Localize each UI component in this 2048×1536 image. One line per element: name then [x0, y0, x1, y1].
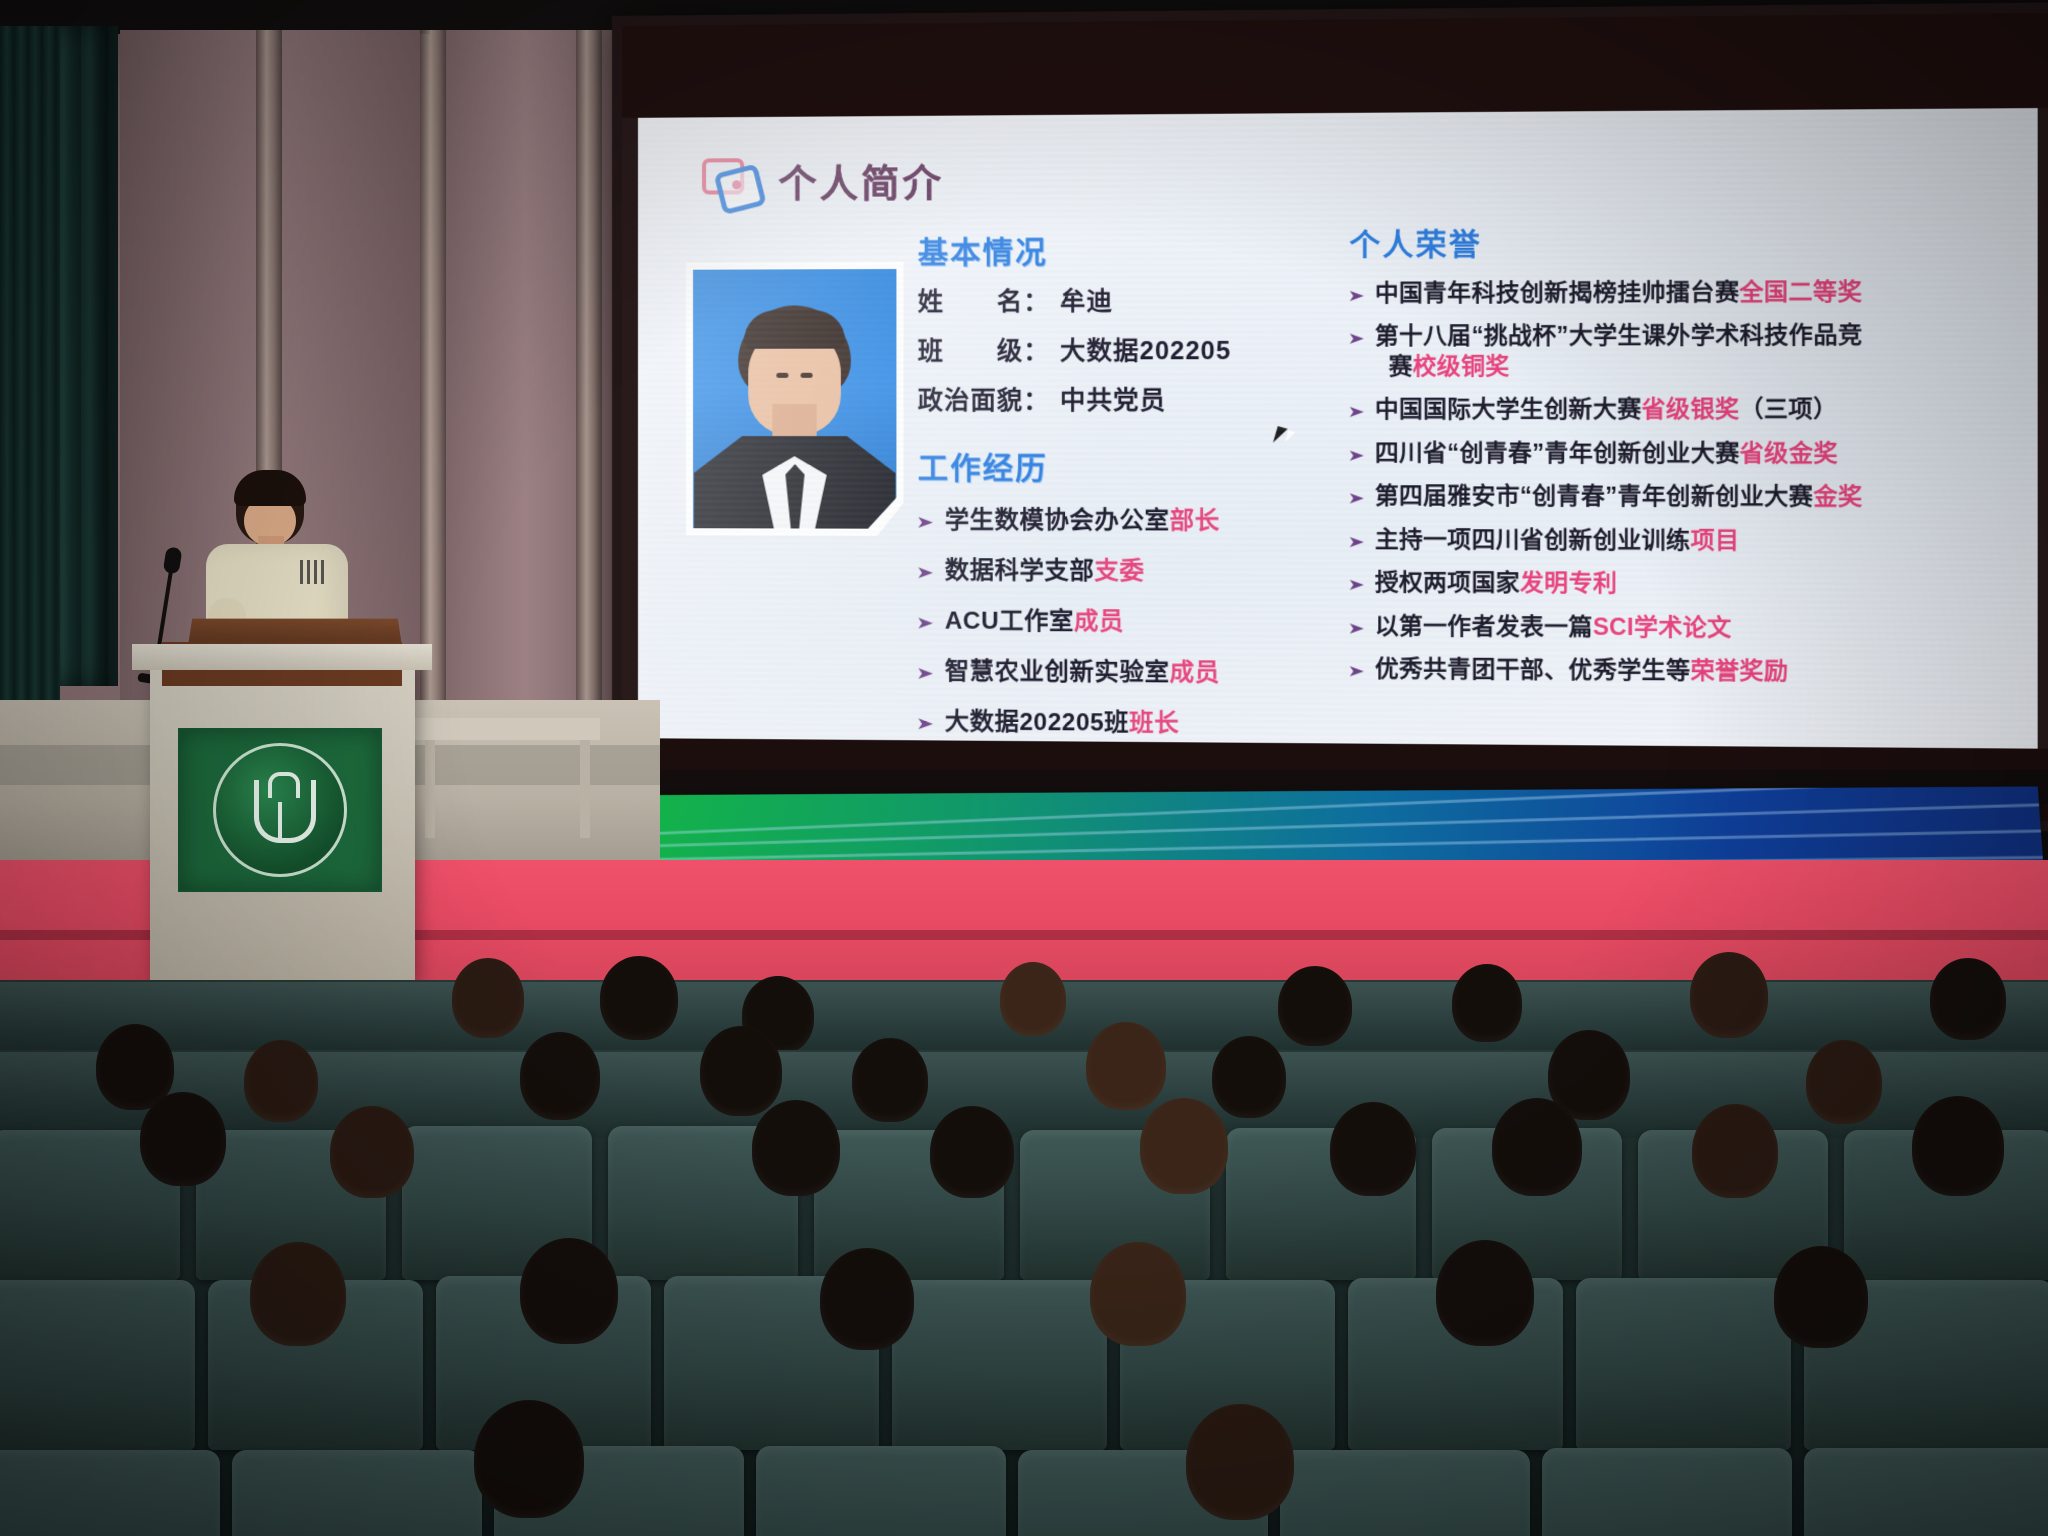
audience-area — [0, 980, 2048, 1536]
stage-curtain-edge — [0, 26, 60, 716]
work-role: 部长 — [1170, 507, 1220, 534]
podium — [150, 660, 415, 980]
honor-text: 优秀共青团干部、优秀学生等 — [1375, 655, 1691, 683]
work-text: ACU工作室 — [945, 607, 1074, 635]
audience-head — [452, 958, 524, 1038]
info-row-class: 班 级：大数据202205 — [918, 331, 1331, 368]
seat — [232, 1450, 482, 1536]
work-text: 学生数模协会办公室 — [945, 507, 1170, 535]
audience-head — [244, 1040, 318, 1122]
list-item: 授权两项国家发明专利 — [1349, 568, 2010, 601]
work-role: 支委 — [1094, 558, 1144, 585]
info-row-name: 姓 名：牟迪 — [918, 281, 1331, 319]
audience-head — [1690, 952, 1768, 1038]
audience-head — [752, 1100, 840, 1196]
left-column: 基本情况 姓 名：牟迪 班 级：大数据202205 政治面貌：中共党员 工作经历 — [664, 220, 1331, 749]
list-item: 大数据202205班班长 — [918, 701, 1331, 739]
audience-head — [1692, 1104, 1778, 1198]
presentation-slide: 个人简介 — [638, 108, 2038, 749]
work-text: 数据科学支部 — [945, 557, 1095, 585]
audience-head — [820, 1248, 914, 1350]
audience-head — [1086, 1022, 1166, 1110]
honor-award: 项目 — [1690, 526, 1739, 553]
basic-info-heading: 基本情况 — [918, 226, 1331, 272]
audience-head — [600, 956, 678, 1040]
honor-text: 第四届雅安市“创青春”青年创新创业大赛 — [1375, 482, 1813, 509]
work-role: 成员 — [1074, 608, 1124, 636]
seat — [1542, 1448, 1792, 1536]
info-row-political: 政治面貌：中共党员 — [918, 380, 1331, 417]
info-value-political: 中共党员 — [1060, 387, 1166, 415]
work-role: 班长 — [1129, 709, 1179, 737]
slide-header: 个人简介 — [702, 145, 2010, 208]
list-item: 数据科学支部支委 — [918, 550, 1331, 587]
info-label-class: 班 级： — [918, 331, 1060, 368]
portrait-photo-wrap — [686, 262, 904, 749]
list-item: 第四届雅安市“创青春”青年创新创业大赛金奖 — [1349, 481, 2010, 512]
portrait-background — [693, 269, 896, 529]
honors-list: 中国青年科技创新揭榜挂帅擂台赛全国二等奖 第十八届“挑战杯”大学生课外学术科技作… — [1349, 277, 2010, 688]
audience-head — [330, 1106, 414, 1198]
info-value-class: 大数据202205 — [1060, 337, 1231, 366]
info-value-name: 牟迪 — [1060, 288, 1113, 316]
audience-head — [1436, 1240, 1534, 1346]
audience-head — [520, 1238, 618, 1344]
audience-head — [1212, 1036, 1286, 1118]
seat — [892, 1280, 1107, 1450]
honor-text: 授权两项国家 — [1375, 569, 1520, 596]
screen-top-band — [622, 13, 2048, 118]
seat — [0, 1280, 195, 1450]
podium-top-edge — [132, 644, 432, 670]
audience-head — [1000, 962, 1066, 1036]
list-item: 智慧农业创新实验室成员 — [918, 651, 1331, 689]
audience-head — [852, 1038, 928, 1122]
honor-text: 中国国际大学生创新大赛 — [1375, 396, 1642, 423]
list-item: 中国青年科技创新揭榜挂帅擂台赛全国二等奖 — [1349, 277, 2010, 309]
audience-head — [1278, 966, 1352, 1046]
slide-surface: 个人简介 — [638, 108, 2038, 749]
honor-award: 发明专利 — [1520, 569, 1617, 596]
audience-head — [1774, 1246, 1868, 1348]
audience-head — [700, 1026, 782, 1116]
honor-award: 省级银奖 — [1642, 396, 1740, 423]
list-item: 主持一项四川省创新创业训练项目 — [1349, 524, 2010, 556]
honor-cont: 赛校级铜奖 — [1389, 351, 2010, 382]
honor-award: 省级金奖 — [1740, 439, 1838, 466]
list-item: 第十八届“挑战杯”大学生课外学术科技作品竞赛校级铜奖 — [1349, 320, 2010, 381]
wall-pillar-b — [420, 30, 446, 730]
honor-award: 全国二等奖 — [1739, 278, 1862, 305]
seat — [1576, 1278, 1791, 1450]
university-emblem-icon — [178, 728, 382, 892]
audience-head — [1806, 1040, 1882, 1124]
list-item: 以第一作者发表一篇SCI学术论文 — [1349, 611, 2010, 644]
seat — [1280, 1450, 1530, 1536]
honor-suffix: （三项） — [1739, 396, 1837, 423]
work-list: 学生数模协会办公室部长 数据科学支部支委 ACU工作室成员 智慧农业创新实验室成… — [918, 500, 1331, 740]
seat — [756, 1446, 1006, 1536]
work-text: 大数据202205班 — [945, 708, 1129, 737]
projection-screen: 个人简介 — [612, 2, 2048, 831]
slide-title: 个人简介 — [778, 152, 944, 208]
slide-columns: 基本情况 姓 名：牟迪 班 级：大数据202205 政治面貌：中共党员 工作经历 — [664, 217, 2010, 749]
tag-icon — [702, 156, 760, 206]
audience-head — [140, 1092, 226, 1186]
honor-text: 以第一作者发表一篇 — [1375, 612, 1593, 640]
work-role: 成员 — [1170, 659, 1220, 687]
audience-head — [520, 1032, 600, 1120]
list-item: 学生数模协会办公室部长 — [918, 500, 1331, 536]
audience-head — [1186, 1404, 1294, 1520]
info-label-political: 政治面貌： — [918, 381, 1060, 417]
audience-head — [250, 1242, 346, 1346]
right-column: 个人荣誉 中国青年科技创新揭榜挂帅擂台赛全国二等奖 第十八届“挑战杯”大学生课外… — [1331, 217, 2010, 749]
audience-head — [1930, 958, 2006, 1040]
audience-head — [1912, 1096, 2004, 1196]
work-text: 智慧农业创新实验室 — [945, 658, 1170, 687]
wall-pillar-c — [576, 30, 602, 730]
honor-award: SCI学术论文 — [1593, 613, 1732, 640]
honor-text: 主持一项四川省创新创业训练 — [1375, 526, 1691, 553]
basic-info-block: 基本情况 姓 名：牟迪 班 级：大数据202205 政治面貌：中共党员 工作经历 — [918, 220, 1331, 749]
avatar — [686, 262, 904, 536]
honor-text: 第十八届“挑战杯”大学生课外学术科技作品竞 — [1375, 322, 1863, 350]
list-item: 优秀共青团干部、优秀学生等荣誉奖励 — [1349, 654, 2010, 688]
honors-heading: 个人荣誉 — [1349, 217, 2010, 265]
audience-head — [474, 1400, 584, 1518]
honor-award: 荣誉奖励 — [1690, 657, 1788, 684]
info-label-name: 姓 名： — [918, 282, 1060, 319]
audience-head — [1492, 1098, 1582, 1196]
seat — [0, 1450, 220, 1536]
honor-text: 中国青年科技创新揭榜挂帅擂台赛 — [1375, 278, 1739, 306]
list-item: 中国国际大学生创新大赛省级银奖（三项） — [1349, 395, 2010, 425]
audience-head — [1140, 1098, 1228, 1194]
honor-award: 金奖 — [1813, 483, 1862, 510]
honor-text: 四川省“创青春”青年创新创业大赛 — [1375, 439, 1740, 466]
list-item: 四川省“创青春”青年创新创业大赛省级金奖 — [1349, 438, 2010, 469]
audience-head — [930, 1106, 1014, 1198]
side-table — [415, 718, 600, 740]
list-item: ACU工作室成员 — [918, 600, 1331, 637]
audience-head — [1090, 1242, 1186, 1346]
audience-head — [1330, 1102, 1416, 1196]
audience-head — [1452, 964, 1522, 1042]
auditorium-scene: 个人简介 — [0, 0, 2048, 1536]
work-heading: 工作经历 — [918, 443, 1331, 488]
seat — [1804, 1448, 2048, 1536]
shirt-graphic-icon — [300, 560, 326, 584]
